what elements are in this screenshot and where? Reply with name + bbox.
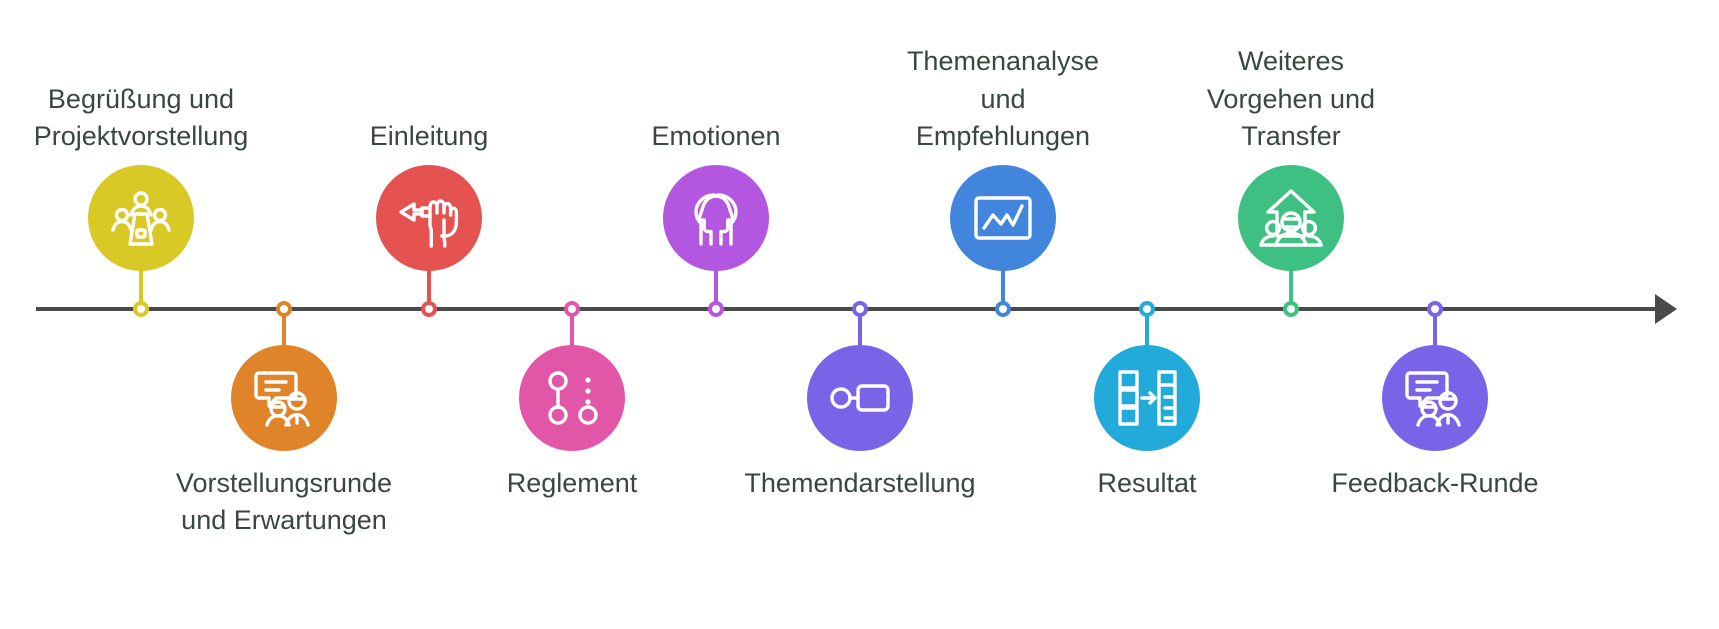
milestone-icon-bubble[interactable] <box>663 165 769 271</box>
milestone-icon-bubble[interactable] <box>519 345 625 451</box>
meeting-table-people-icon <box>109 186 173 250</box>
milestone-node-dot[interactable] <box>1139 301 1155 317</box>
milestone-icon-bubble[interactable] <box>376 165 482 271</box>
milestone-node-dot[interactable] <box>852 301 868 317</box>
milestone-label: Reglement <box>422 465 722 502</box>
milestone-node-dot[interactable] <box>995 301 1011 317</box>
milestone-node-dot[interactable] <box>564 301 580 317</box>
milestone-label: Themendarstellung <box>710 465 1010 502</box>
arrow-up-group-people-icon <box>1259 186 1323 250</box>
speech-bubble-people-icon <box>252 366 316 430</box>
milestone-icon-bubble[interactable] <box>807 345 913 451</box>
milestone-node-dot[interactable] <box>1283 301 1299 317</box>
milestone-label: Einleitung <box>279 118 579 155</box>
hand-holding-pen-icon <box>397 186 461 250</box>
milestone-node-dot[interactable] <box>421 301 437 317</box>
line-chart-screen-icon <box>971 186 1035 250</box>
milestone-node-dot[interactable] <box>276 301 292 317</box>
milestone-label: Vorstellungsrunde und Erwartungen <box>134 465 434 540</box>
milestone-label: Weiteres Vorgehen und Transfer <box>1141 43 1441 155</box>
milestone-node-dot[interactable] <box>708 301 724 317</box>
milestone-label: Themenanalyse und Empfehlungen <box>853 43 1153 155</box>
speech-bubble-people-icon <box>1403 366 1467 430</box>
milestone-label: Feedback-Runde <box>1285 465 1585 502</box>
milestone-icon-bubble[interactable] <box>1094 345 1200 451</box>
milestone-icon-bubble[interactable] <box>1382 345 1488 451</box>
milestone-node-dot[interactable] <box>1427 301 1443 317</box>
timeline-axis-arrowhead <box>1655 294 1677 324</box>
milestone-icon-bubble[interactable] <box>88 165 194 271</box>
milestone-icon-bubble[interactable] <box>1238 165 1344 271</box>
milestone-label: Resultat <box>997 465 1297 502</box>
presentation-pointer-icon <box>828 366 892 430</box>
milestone-node-dot[interactable] <box>133 301 149 317</box>
process-transfer-arrow-icon <box>1115 366 1179 430</box>
rules-checklist-nodes-icon <box>540 366 604 430</box>
milestone-icon-bubble[interactable] <box>231 345 337 451</box>
timeline-diagram: Begrüßung und ProjektvorstellungVorstell… <box>0 0 1719 629</box>
milestone-icon-bubble[interactable] <box>950 165 1056 271</box>
two-head-profiles-icon <box>684 186 748 250</box>
milestone-label: Emotionen <box>566 118 866 155</box>
milestone-label: Begrüßung und Projektvorstellung <box>0 81 291 156</box>
